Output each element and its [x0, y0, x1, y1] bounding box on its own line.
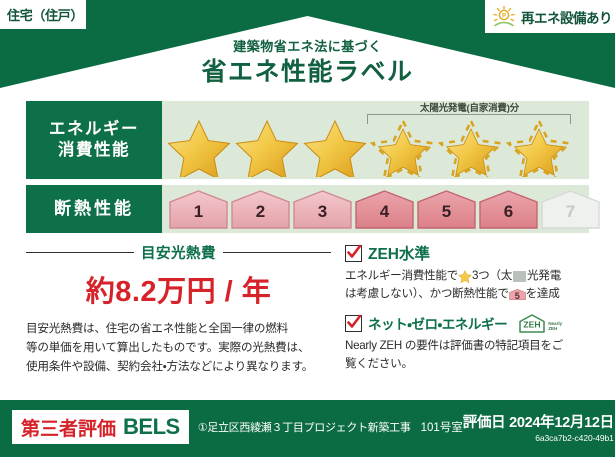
star-solar: [506, 117, 572, 177]
insulation-level-badge: 4: [354, 189, 415, 230]
insulation-level-number: 1: [168, 202, 229, 222]
insulation-level-badge-achieved: 6: [478, 189, 539, 230]
net-zero-energy-body: Nearly ZEH の要件は評価書の特記項目をご 覧ください。: [345, 337, 593, 374]
star-solid: [234, 117, 300, 177]
insulation-level-number: 6: [478, 202, 539, 222]
bels-logo-text: BELS: [123, 414, 180, 440]
energy-label-line2: 消費性能: [58, 140, 130, 161]
evaluation-id: 6a3ca7b2-c420-49b1: [463, 433, 614, 443]
insulation-level-number: 3: [292, 202, 353, 222]
insulation-level-badge: 3: [292, 189, 353, 230]
zeh-standard-head: ZEH水準: [345, 242, 593, 264]
insulation-level-badge: 1: [168, 189, 229, 230]
zeh-standard-title: ZEH水準: [368, 242, 430, 264]
svg-text:ZEH: ZEH: [524, 319, 541, 329]
cost-heading: 目安光熱費: [141, 242, 216, 263]
renewable-equipment-tag: P 再エネ設備あり: [485, 0, 615, 33]
net-zero-energy-line-2: 覧ください。: [345, 355, 593, 373]
zeh-logo-subtext-line-2: ZEH: [548, 327, 562, 332]
star-solid: [166, 117, 232, 177]
dwelling-type-label: 住宅（住戸）: [7, 5, 83, 24]
energy-star-rating: [166, 117, 572, 177]
insulation-label: 断熱性能: [54, 198, 134, 219]
zeh-standard-text-a: エネルギー消費性能で: [345, 267, 458, 285]
check-icon: [345, 313, 363, 331]
zeh-standard-text-e: を達成: [526, 285, 560, 303]
insulation-level-badge-inactive: 7: [540, 189, 601, 230]
solar-contribution-caption: 太陽光発電(自家消費)分: [362, 100, 577, 114]
inline-insulation-badge: 5: [509, 288, 526, 301]
renewable-equipment-label: 再エネ設備あり: [521, 7, 612, 27]
zeh-standard-text-c: 光発電: [527, 267, 561, 285]
energy-performance-row: エネルギー 消費性能 太陽光発電(自家消費)分: [26, 101, 589, 179]
energy-performance-label-box: エネルギー 消費性能: [26, 101, 162, 179]
insulation-level-number: 4: [354, 202, 415, 222]
inline-star-icon: [458, 269, 472, 283]
inline-badge-number: 5: [509, 289, 526, 303]
zeh-standard-line-1: エネルギー消費性能で 3つ（太 光発電: [345, 267, 593, 285]
checkbox-zeh-standard[interactable]: [345, 245, 362, 262]
zeh-standard-item: ZEH水準 エネルギー消費性能で 3つ（太 光発電: [345, 242, 593, 304]
net-zero-energy-title: ネット・ゼロ・エネルギー: [368, 313, 507, 333]
insulation-level-scale: 1 2 3: [168, 189, 601, 230]
dwelling-type-tag: 住宅（住戸）: [0, 0, 86, 29]
cost-disclaimer-line-2: 等の単価を用いて算出したものです。実際の光熱費は、: [26, 339, 331, 358]
insulation-level-badge: 5: [416, 189, 477, 230]
cost-rule-left: [26, 252, 134, 254]
room-number: 101号室: [421, 419, 463, 435]
evaluation-meta: 評価日 2024年12月12日 6a3ca7b2-c420-49b1: [463, 411, 614, 443]
net-zero-energy-line-1: Nearly ZEH の要件は評価書の特記項目をご: [345, 337, 593, 355]
zeh-logo-subtext: Nearly ZEH: [548, 322, 562, 334]
zeh-house-icon: ZEH: [517, 313, 547, 334]
insulation-performance-row: 断熱性能 1 2: [26, 185, 589, 233]
checkbox-net-zero-energy[interactable]: [345, 315, 362, 332]
star-solid: [302, 117, 368, 177]
star-solar: [370, 117, 436, 177]
insulation-level-badge: 2: [230, 189, 291, 230]
zeh-standard-body: エネルギー消費性能で 3つ（太 光発電 は考慮しない）、かつ断熱性能で: [345, 267, 593, 304]
cost-disclaimer-line-3: 使用条件や設備、契約会社・方法などにより異なります。: [26, 358, 331, 377]
zeh-logo: ZEH Nearly ZEH: [517, 313, 562, 334]
check-icon: [345, 243, 363, 261]
energy-performance-label: 住宅（住戸） P 再エネ設備あり 建築物省エネ法に基づく 省エネ性能ラベル: [0, 0, 615, 457]
energy-label-line1: エネルギー: [49, 119, 139, 140]
project-name: ①足立区西綾瀬３丁目プロジェクト新築工事: [198, 419, 411, 435]
obscured-text-block: [513, 271, 526, 282]
cost-disclaimer-line-1: 目安光熱費は、住宅の省エネ性能と全国一律の燃料: [26, 320, 331, 339]
net-zero-energy-item: ネット・ゼロ・エネルギー ZEH Nearly ZEH Nearly ZEH の…: [345, 313, 593, 374]
zeh-standard-text-b: 3つ（太: [472, 267, 512, 285]
bels-plate: 第三者評価 BELS: [12, 410, 189, 444]
star-solar: [438, 117, 504, 177]
solar-sun-icon: P: [491, 5, 517, 29]
label-title: 省エネ性能ラベル: [0, 52, 615, 88]
cost-disclaimer: 目安光熱費は、住宅の省エネ性能と全国一律の燃料 等の単価を用いて算出したものです…: [26, 320, 331, 376]
insulation-level-number: 5: [416, 202, 477, 222]
third-party-evaluation-label: 第三者評価: [21, 414, 116, 441]
criteria-block: ZEH水準 エネルギー消費性能で 3つ（太 光発電: [345, 242, 593, 382]
label-card: エネルギー 消費性能 太陽光発電(自家消費)分: [12, 92, 603, 397]
insulation-level-number: 2: [230, 202, 291, 222]
zeh-standard-text-d: は考慮しない）、かつ断熱性能で: [345, 285, 509, 303]
insulation-performance-body: 1 2 3: [162, 185, 589, 233]
insulation-level-number: 7: [540, 202, 601, 222]
zeh-standard-line-2: は考慮しない）、かつ断熱性能で 5 を達成: [345, 285, 593, 303]
cost-heading-row: 目安光熱費: [26, 242, 331, 263]
cost-value: 約8.2万円 / 年: [26, 268, 331, 310]
estimated-utility-cost-block: 目安光熱費 約8.2万円 / 年 目安光熱費は、住宅の省エネ性能と全国一律の燃料…: [26, 242, 331, 376]
footer-bar: 第三者評価 BELS ①足立区西綾瀬３丁目プロジェクト新築工事 101号室 評価…: [0, 397, 615, 457]
svg-text:P: P: [502, 13, 506, 19]
evaluation-date: 評価日 2024年12月12日: [463, 411, 614, 432]
cost-rule-right: [223, 252, 331, 254]
energy-performance-body: 太陽光発電(自家消費)分: [162, 101, 589, 179]
net-zero-energy-head: ネット・ゼロ・エネルギー ZEH Nearly ZEH: [345, 313, 593, 334]
insulation-performance-label-box: 断熱性能: [26, 185, 162, 233]
